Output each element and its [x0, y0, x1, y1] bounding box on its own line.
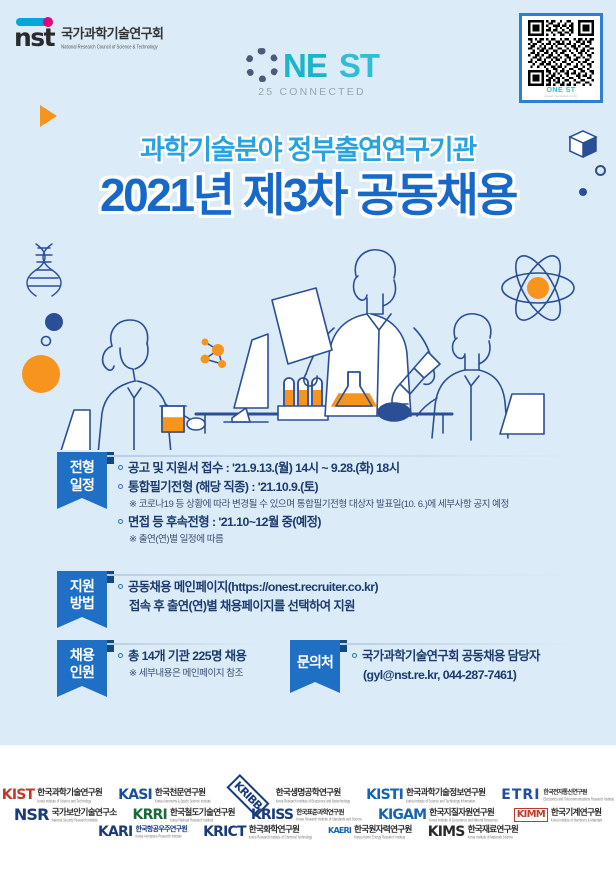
info-sections: 전형 일정 공고 및 지원서 접수 : '21.9.13.(월) 14시 ~ 9…	[0, 452, 616, 718]
qr-code-box[interactable]: ONE ST onest.recruiter.co.kr	[519, 13, 603, 103]
logo-kisti: KISTI 한국과학기술정보연구원Korea Institute of Scie…	[358, 788, 493, 802]
logo-kist: KIST 한국과학기술연구원Korea Institute of Science…	[0, 788, 110, 802]
logo-krict: KRICT 한국화학연구원Korea Research Institute of…	[195, 825, 320, 839]
logo-kims: KIMS 한국재료연구원Korea Institute of Materials…	[420, 825, 526, 839]
contact-detail-text[interactable]: (gyl@nst.re.kr, 044-287-7461)	[363, 666, 616, 685]
onest-logo: NE ST 25 CONNECTED	[232, 48, 392, 98]
apply-url-text[interactable]: 공동채용 메인페이지(https://onest.recruiter.co.kr…	[128, 578, 378, 597]
contact-badge-line1: 문의처	[290, 654, 340, 672]
contact-badge: 문의처	[290, 640, 340, 694]
nst-logomark: nst	[14, 18, 54, 48]
logo-korean: 한국원자력연구원	[354, 825, 412, 834]
hiring-count-text: 총 14개 기관 225명 채용	[128, 647, 246, 666]
logo-abbr: KIMS	[428, 825, 465, 839]
decor-navy-dot-left	[45, 313, 63, 331]
molecule-node-3	[218, 360, 226, 368]
logo-english: Korea Institute of Science and Technolog…	[37, 798, 102, 804]
schedule-note: ※ 코로나19 등 상황에 따라 변경될 수 있으며 통합필기전형 대상자 발표…	[129, 497, 616, 513]
logo-english: Korea Railroad Research Institute	[170, 817, 235, 823]
logo-korean: 한국과학기술정보연구원	[406, 788, 485, 797]
logo-abbr: KAERI	[328, 827, 351, 835]
headline-subtitle: 과학기술분야 정부출연연구기관	[0, 128, 616, 167]
logo-abbr: KISTI	[366, 788, 403, 802]
list-item[interactable]: 공동채용 메인페이지(https://onest.recruiter.co.kr…	[118, 578, 616, 597]
list-item: 통합필기전형 (해당 직종) : '21.10.9.(토)	[118, 478, 616, 497]
logo-kari: KARI 한국항공우주연구원Korea Aerospace Research I…	[90, 825, 195, 839]
logo-english: Korea Institute of Machinery & Materials	[551, 817, 602, 823]
bullet-icon	[118, 484, 123, 489]
headline-group: 과학기술분야 정부출연연구기관 2021년 제3차 공동채용	[0, 128, 616, 222]
schedule-badge: 전형 일정	[57, 452, 107, 509]
section-hiring: 채용 인원 총 14개 기관 225명 채용 ※ 세부내용은 메인페이지 참조	[0, 640, 300, 682]
list-item: 공고 및 지원서 접수 : '21.9.13.(월) 14시 ~ 9.28.(화…	[118, 459, 616, 478]
schedule-items: 공고 및 지원서 접수 : '21.9.13.(월) 14시 ~ 9.28.(화…	[118, 452, 616, 549]
logo-korean: 한국재료연구원	[468, 825, 518, 834]
hiring-badge-line2: 인원	[57, 664, 107, 682]
onest-ring-icon	[245, 48, 279, 82]
hiring-divider	[107, 643, 260, 645]
contact-items: 국가과학기술연구회 공동채용 담당자 (gyl@nst.re.kr, 044-2…	[352, 640, 616, 685]
logo-korean: 한국지질자원연구원	[429, 808, 497, 817]
logo-etri: ETRI 한국전자통신연구원Electronics and Telecommun…	[493, 788, 616, 802]
hiring-badge-fold	[107, 640, 114, 652]
apply-badge-tail	[57, 617, 107, 628]
monitor-icon	[224, 334, 268, 422]
molecule-node-4	[202, 339, 209, 346]
apply-divider	[107, 574, 584, 576]
logo-abbr: KIST	[2, 788, 35, 802]
logo-english: National Security Research Institute	[52, 817, 117, 823]
bullet-icon	[118, 519, 123, 524]
logo-english: Korea Research Institute of Standards an…	[296, 816, 362, 822]
onest-st-text: ST	[339, 49, 379, 82]
molecule-node-1	[201, 355, 210, 364]
logo-kribb: KRIBB 한국생명공학연구원Korea Research Institute …	[219, 786, 358, 805]
qr-code-icon	[526, 20, 596, 86]
institute-logos-footer: KIST 한국과학기술연구원Korea Institute of Science…	[0, 745, 616, 875]
test-tube-icon	[278, 378, 328, 420]
logo-abbr: KIGAM	[378, 808, 426, 822]
dna-helix-icon	[27, 244, 61, 296]
logo-english: Korea Research Institute of Chemical Tec…	[249, 834, 312, 840]
lab-scene-illustration	[0, 228, 616, 450]
logo-abbr: KIMM	[514, 808, 548, 822]
logo-english: Korea Institute of Science and Technolog…	[406, 798, 485, 804]
laptop-icon	[500, 394, 544, 434]
laptop-left-icon	[60, 410, 90, 450]
logo-abbr: KARI	[98, 825, 132, 839]
schedule-badge-line1: 전형	[57, 459, 107, 477]
logo-english: Electronics and Telecommunications Resea…	[543, 796, 614, 802]
onest-tagline: 25 CONNECTED	[232, 86, 392, 98]
logo-korean: 한국기계연구원	[551, 808, 602, 817]
decor-orange-circle	[22, 355, 60, 393]
qr-subcaption: onest.recruiter.co.kr	[526, 94, 596, 98]
logo-row-1: KIST 한국과학기술연구원Korea Institute of Science…	[0, 786, 616, 805]
logo-abbr: NSR	[14, 807, 49, 823]
contact-owner-text: 국가과학기술연구회 공동채용 담당자	[362, 647, 540, 666]
logo-nsr: NSR 국가보안기술연구소National Security Research …	[6, 807, 125, 823]
apply-badge-line2: 방법	[57, 595, 107, 613]
apply-badge-line1: 지원	[57, 578, 107, 596]
apply-item-text: 접속 후 출연(연)별 채용페이지를 선택하여 지원	[129, 597, 616, 616]
section-schedule: 전형 일정 공고 및 지원서 접수 : '21.9.13.(월) 14시 ~ 9…	[0, 452, 616, 549]
logo-krri: KRRI 한국철도기술연구원Korea Railroad Research In…	[125, 808, 243, 822]
logo-english: Korea Institute of Geoscience and Minera…	[429, 817, 497, 823]
schedule-item-text: 공고 및 지원서 접수 : '21.9.13.(월) 14시 ~ 9.28.(화…	[128, 459, 400, 478]
logo-korean: 한국표준과학연구원	[296, 809, 362, 816]
recruitment-poster: nst 국가과학기술연구회 National Research Council …	[0, 0, 616, 875]
contact-divider	[340, 643, 576, 645]
logo-kaeri: KAERI 한국원자력연구원Korea Atomic Energy Resear…	[320, 825, 420, 838]
logo-korean: 한국천문연구원	[155, 788, 211, 797]
list-item: 국가과학기술연구회 공동채용 담당자	[352, 647, 616, 666]
schedule-badge-line2: 일정	[57, 477, 107, 495]
molecule-node-2	[212, 344, 224, 356]
contact-badge-fold	[340, 640, 347, 652]
play-triangle-icon	[40, 105, 57, 127]
decor-hollow-dot-left	[42, 337, 51, 346]
logo-row-3: KARI 한국항공우주연구원Korea Aerospace Research I…	[0, 825, 616, 839]
logo-kasi: KASI 한국천문연구원Korea Astronomy & Space Scie…	[110, 788, 219, 802]
nst-abbr: nst	[14, 28, 54, 48]
logo-korean: 한국생명공학연구원	[276, 788, 350, 797]
logo-english: Korea Institute of Materials Science	[468, 834, 518, 840]
atom-nucleus-icon	[527, 277, 549, 299]
section-apply-method: 지원 방법 공동채용 메인페이지(https://onest.recruiter…	[0, 571, 616, 616]
nst-pill-icon	[16, 18, 50, 26]
nst-name-block: 국가과학기술연구회 National Research Council of S…	[61, 27, 163, 48]
logo-abbr: KRICT	[203, 825, 246, 839]
onest-ne-text: NE	[283, 49, 327, 82]
schedule-badge-tail	[57, 498, 107, 509]
logo-row-2: NSR 국가보안기술연구소National Security Research …	[0, 807, 616, 823]
apply-badge: 지원 방법	[57, 571, 107, 628]
bullet-icon	[118, 653, 123, 658]
logo-kimm: KIMM 한국기계연구원Korea Institute of Machinery…	[506, 808, 610, 822]
logo-abbr: KASI	[118, 788, 152, 802]
beaker-icon	[160, 406, 186, 432]
scientist-right	[417, 314, 508, 440]
qr-caption: ONE ST	[526, 87, 596, 94]
headline-title: 2021년 제3차 공동채용	[0, 169, 616, 222]
schedule-note: ※ 출연(연)별 일정에 따름	[129, 532, 616, 548]
schedule-divider	[107, 455, 584, 457]
logo-korean: 한국화학연구원	[249, 825, 312, 834]
bullet-icon	[118, 584, 123, 589]
hiring-badge-line1: 채용	[57, 647, 107, 665]
logo-english: Korea Astronomy & Space Science Institut…	[155, 798, 211, 804]
schedule-badge-fold	[107, 452, 114, 464]
section-hiring-contact-row: 채용 인원 총 14개 기관 225명 채용 ※ 세부내용은 메인페이지 참조 …	[0, 640, 616, 712]
logo-korean: 국가보안기술연구소	[52, 808, 117, 817]
bullet-icon	[352, 653, 357, 658]
logo-english: Korea Research Institute of Bioscience a…	[276, 798, 350, 804]
nst-english-name: National Research Council of Science & T…	[61, 43, 163, 50]
section-contact: 문의처 국가과학기술연구회 공동채용 담당자 (gyl@nst.re.kr, 0…	[272, 640, 616, 685]
schedule-item-text: 통합필기전형 (해당 직종) : '21.10.9.(토)	[128, 478, 318, 497]
onest-wordmark: NE ST	[232, 48, 392, 82]
logo-kigam: KIGAM 한국지질자원연구원Korea Institute of Geosci…	[370, 808, 506, 822]
nst-korean-name: 국가과학기술연구회	[61, 27, 163, 41]
logo-korean: 한국철도기술연구원	[170, 808, 235, 817]
list-item: 면접 등 후속전형 : '21.10~12월 중(예정)	[118, 513, 616, 532]
logo-abbr: KRRI	[133, 808, 167, 822]
logo-english: Korea Aerospace Research Institute	[135, 833, 187, 839]
apply-items: 공동채용 메인페이지(https://onest.recruiter.co.kr…	[118, 571, 616, 616]
logo-abbr: ETRI	[501, 788, 540, 802]
bullet-icon	[118, 465, 123, 470]
nst-logo: nst 국가과학기술연구회 National Research Council …	[14, 18, 163, 48]
hiring-badge-tail	[57, 686, 107, 697]
hiring-badge: 채용 인원	[57, 640, 107, 697]
contact-badge-tail	[290, 682, 340, 693]
apply-badge-fold	[107, 571, 114, 583]
schedule-item-text: 면접 등 후속전형 : '21.10~12월 중(예정)	[128, 513, 321, 532]
logo-korean: 한국과학기술연구원	[37, 788, 102, 797]
logo-english: Korea Atomic Energy Research Institute	[354, 834, 412, 840]
